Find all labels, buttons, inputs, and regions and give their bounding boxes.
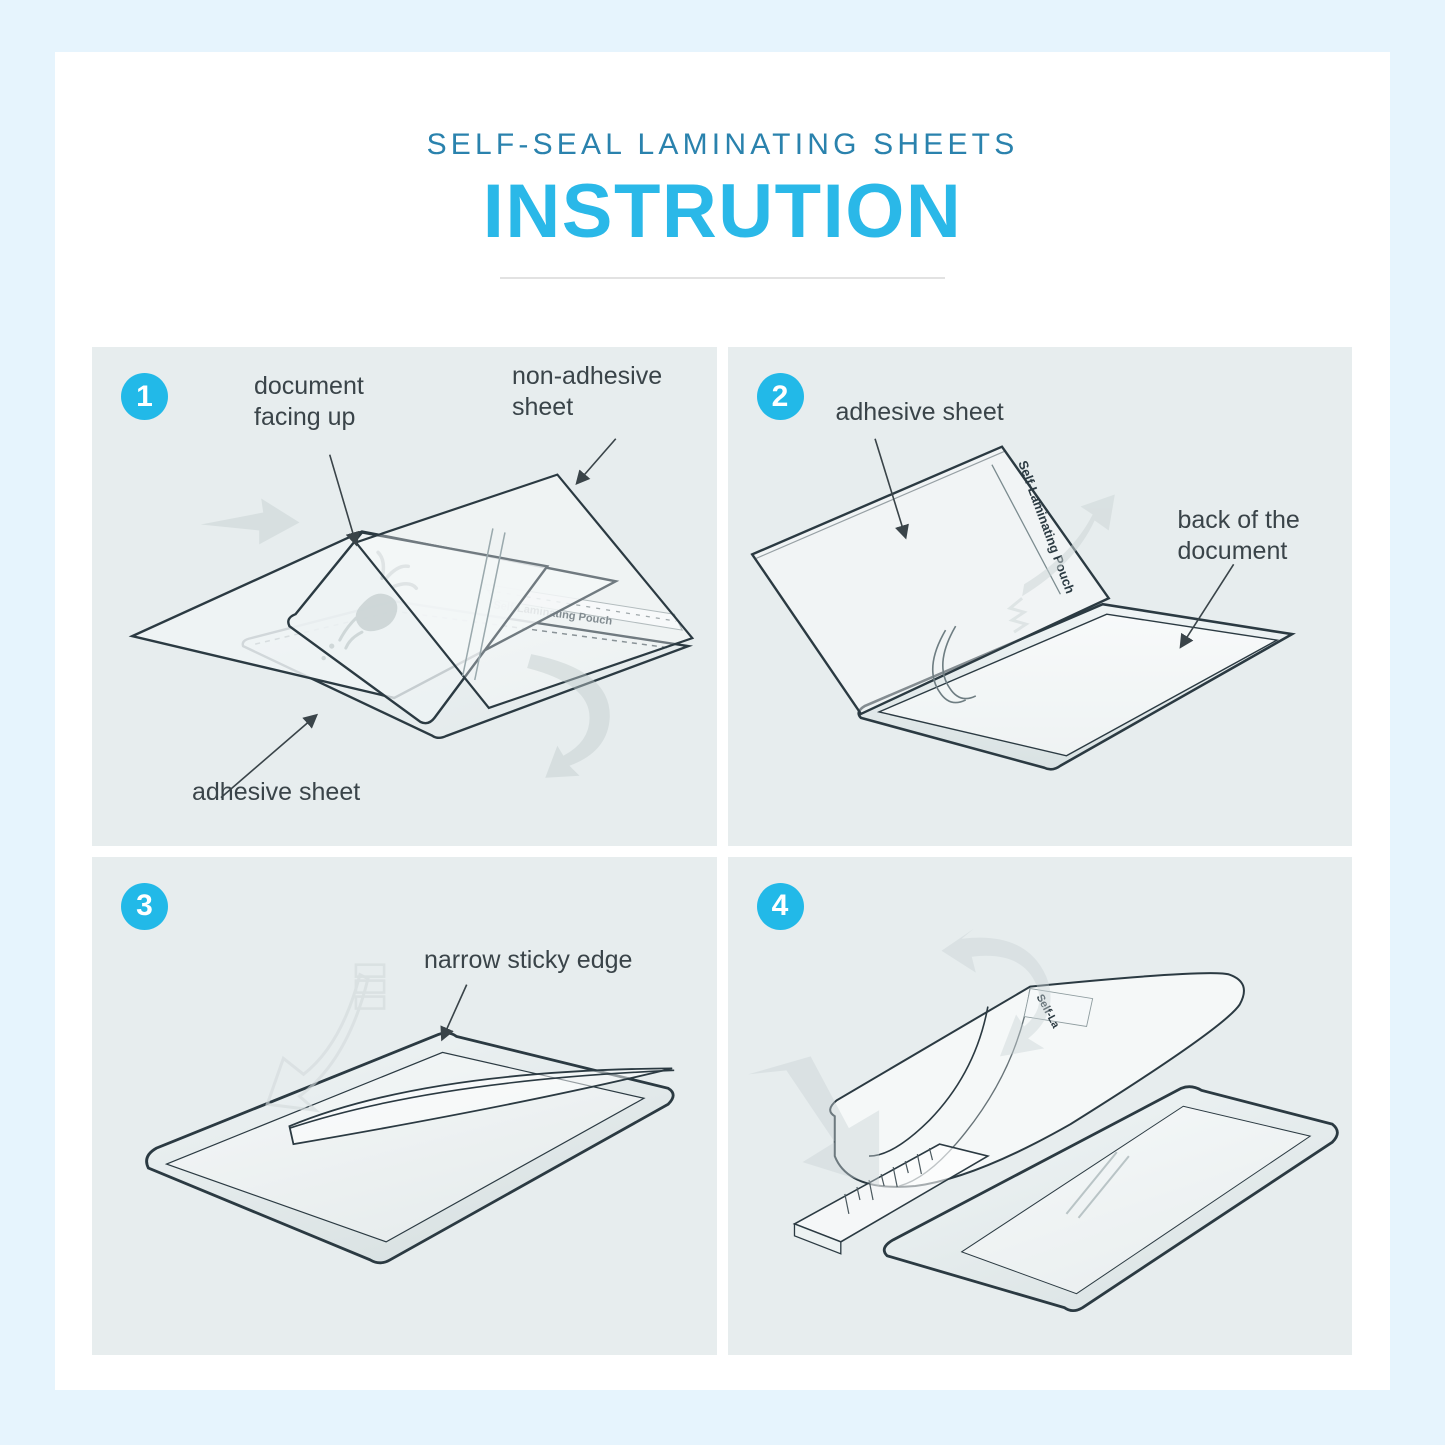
page-title: INSTRUTION: [55, 174, 1390, 250]
label-back-of-document: back of the document: [1178, 505, 1300, 566]
step-panel-2: Self-Laminating Pouch: [728, 347, 1353, 846]
laminated-card: [147, 1032, 674, 1262]
step-badge-4: 4: [757, 883, 804, 930]
header: SELF-SEAL LAMINATING SHEETS INSTRUTION: [55, 130, 1390, 279]
step-3-illustration: [92, 857, 717, 1356]
gray-arrow-icon: [201, 499, 300, 545]
step-badge-2: 2: [757, 373, 804, 420]
steps-grid: Self-Laminating Pouch: [92, 347, 1352, 1355]
label-adhesive-sheet: adhesive sheet: [192, 777, 360, 808]
step-badge-1: 1: [121, 373, 168, 420]
step-badge-3: 3: [121, 883, 168, 930]
instruction-infographic: SELF-SEAL LAMINATING SHEETS INSTRUTION: [0, 0, 1445, 1445]
step-panel-1: Self-Laminating Pouch: [92, 347, 717, 846]
label-narrow-sticky-edge: narrow sticky edge: [424, 945, 632, 976]
subtitle: SELF-SEAL LAMINATING SHEETS: [55, 130, 1390, 160]
label-document-facing-up: document facing up: [254, 371, 364, 432]
label-non-adhesive-sheet: non-adhesive sheet: [512, 361, 662, 422]
step-panel-4: Self-La: [728, 857, 1353, 1356]
label-adhesive-sheet-2: adhesive sheet: [836, 397, 1004, 428]
leader-lines-3: [443, 984, 467, 1038]
step-panel-3: 3 narrow sticky edge: [92, 857, 717, 1356]
step-2-illustration: Self-Laminating Pouch: [728, 347, 1353, 846]
content-card: SELF-SEAL LAMINATING SHEETS INSTRUTION: [55, 52, 1390, 1390]
title-divider: [500, 277, 945, 279]
step-4-illustration: Self-La: [728, 857, 1353, 1356]
